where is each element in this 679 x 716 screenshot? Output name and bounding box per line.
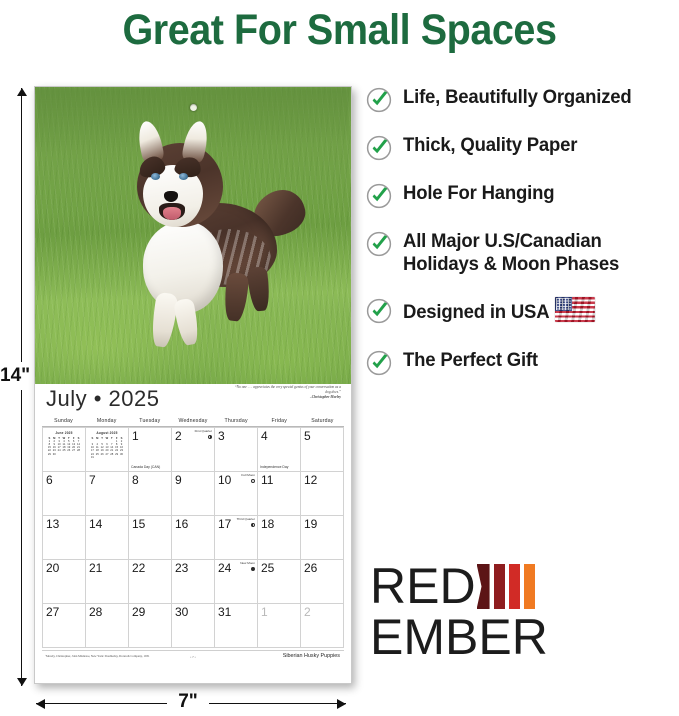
feature-label: Designed in USA [403, 297, 595, 328]
dog-eye-left [151, 173, 160, 180]
width-dimension-label: 7" [167, 691, 209, 713]
feature-item: The Perfect Gift [366, 349, 676, 376]
calendar-day-cell: 7 [86, 472, 129, 516]
calendar-day-cell: 19 [301, 516, 344, 560]
calendar-day-cell: 31 [215, 604, 258, 648]
mini-month-title: August 2025 [90, 432, 124, 436]
day-number: 9 [175, 473, 182, 487]
calendar-day-cell: 27 [43, 604, 86, 648]
day-number: 11 [261, 473, 273, 487]
hanging-hole-icon [190, 104, 197, 111]
calendar-day-cell: 2 [301, 604, 344, 648]
day-number: 18 [261, 517, 274, 531]
feature-item: Designed in USA [366, 297, 676, 328]
feature-item: All Major U.S/CanadianHolidays & Moon Ph… [366, 230, 676, 276]
calendar-day-cell: 29 [129, 604, 172, 648]
page-title: Great For Small Spaces [27, 4, 652, 56]
day-number: 16 [175, 517, 188, 531]
day-number: 25 [261, 561, 274, 575]
calendar-day-cell: 15 [129, 516, 172, 560]
feature-label: All Major U.S/CanadianHolidays & Moon Ph… [403, 230, 619, 276]
mini-month-title: June 2025 [47, 432, 81, 436]
check-circle-icon [366, 350, 392, 376]
arrow-down-icon [17, 678, 27, 686]
moon-phase-icon: Full Moon [241, 474, 255, 483]
us-flag-icon [555, 297, 595, 328]
calendar-day-cell: 4Independence Day [258, 428, 301, 472]
moon-phase-icon: Third Quarter [237, 518, 255, 527]
day-number: 23 [175, 561, 188, 575]
check-circle-icon [366, 298, 392, 324]
calendar-day-cell: 12 [301, 472, 344, 516]
logo-bar-3 [509, 564, 520, 609]
calendar-grid-panel: July • 2025 “No one . . . appreciates th… [35, 384, 351, 684]
day-number: 28 [89, 605, 102, 619]
calendar-day-cell: 30 [172, 604, 215, 648]
calendar-day-cell: 3 [215, 428, 258, 472]
arrow-up-icon [17, 88, 27, 96]
calendar-day-cell: 8 [129, 472, 172, 516]
logo-bar-2 [494, 564, 505, 609]
day-number: 24 [218, 561, 231, 575]
dog-front-leg-left [149, 292, 178, 349]
day-number: 1 [132, 429, 139, 443]
day-number: 3 [218, 429, 225, 443]
day-header: Saturday [301, 414, 344, 426]
calendar-header: July • 2025 “No one . . . appreciates th… [42, 384, 344, 414]
day-number: 27 [46, 605, 59, 619]
logo-bar-1 [477, 564, 490, 609]
dog-tongue [163, 207, 181, 220]
calendar-photo-panel [35, 87, 351, 384]
day-number: 30 [175, 605, 188, 619]
day-number: 10 [218, 473, 231, 487]
calendar-mini-month-cell: June 2025SMTWTFS123456789101112131415161… [43, 428, 86, 472]
check-circle-icon [366, 183, 392, 209]
check-circle-icon [366, 87, 392, 113]
calendar-day-cell: 28 [86, 604, 129, 648]
calendar-day-cell: 21 [86, 560, 129, 604]
calendar-day-cell: 25 [258, 560, 301, 604]
day-number: 31 [218, 605, 231, 619]
day-number: 20 [46, 561, 59, 575]
calendar-day-cell: 17Third Quarter [215, 516, 258, 560]
quote-text: “No one . . . appreciates the very speci… [235, 385, 341, 394]
dog-hind-leg-right [247, 266, 271, 312]
day-header: Sunday [42, 414, 85, 426]
day-number: 15 [132, 517, 145, 531]
feature-item: Life, Beautifully Organized [366, 86, 676, 113]
day-number: 17 [218, 517, 231, 531]
day-number: 2 [175, 429, 182, 443]
calendar-page-number: • 7 • [190, 655, 195, 659]
calendar-credit: ‘Morely, Christopher, John Mistletoe, Ne… [45, 654, 149, 658]
day-number: 12 [304, 473, 317, 487]
day-header: Friday [258, 414, 301, 426]
calendar-month-title: July • 2025 [46, 386, 160, 412]
check-circle-icon [366, 231, 392, 257]
calendar-day-cell: 11 [258, 472, 301, 516]
logo-top-row: RED [370, 563, 610, 610]
red-ember-logo: RED EMBER [370, 563, 610, 662]
feature-list: Life, Beautifully Organized Thick, Quali… [366, 86, 676, 397]
feature-label: Thick, Quality Paper [403, 134, 577, 157]
calendar-day-cell: 14 [86, 516, 129, 560]
calendar-day-cell: 9 [172, 472, 215, 516]
calendar-day-cell: 20 [43, 560, 86, 604]
calendar-day-cell: 18 [258, 516, 301, 560]
calendar-quote: “No one . . . appreciates the very speci… [231, 385, 341, 400]
feature-item: Thick, Quality Paper [366, 134, 676, 161]
day-header: Thursday [215, 414, 258, 426]
logo-word-ember: EMBER [370, 612, 610, 662]
feature-item: Hole For Hanging [366, 182, 676, 209]
day-number: 14 [89, 517, 102, 531]
day-number: 19 [304, 517, 317, 531]
calendar-mini-month-cell: August 2025SMTWTFS1234567891011121314151… [86, 428, 129, 472]
calendar-footer: ‘Morely, Christopher, John Mistletoe, Ne… [42, 650, 344, 664]
calendar-series-title: Siberian Husky Puppies [283, 653, 340, 659]
check-circle-icon [366, 135, 392, 161]
calendar-day-grid: June 2025SMTWTFS123456789101112131415161… [42, 427, 344, 648]
dog-hind-leg-left [223, 272, 250, 322]
day-number: 26 [304, 561, 317, 575]
calendar-day-cell: 1 [258, 604, 301, 648]
calendar-day-cell: 10Full Moon [215, 472, 258, 516]
husky-puppy-photo [113, 117, 303, 357]
day-number: 1 [261, 605, 268, 619]
calendar-day-cell: 1Canada Day (CAN) [129, 428, 172, 472]
mini-month: August 2025SMTWTFS1234567891011121314151… [90, 432, 124, 459]
day-number: 22 [132, 561, 145, 575]
calendar-day-headers: SundayMondayTuesdayWednesdayThursdayFrid… [42, 414, 344, 427]
day-header: Wednesday [171, 414, 214, 426]
day-number: 5 [304, 429, 311, 443]
arrow-left-icon [36, 699, 45, 709]
day-number: 2 [304, 605, 311, 619]
product-marketing-image: Great For Small Spaces 14" 7" [0, 0, 679, 716]
feature-label: Hole For Hanging [403, 182, 554, 205]
day-number: 6 [46, 473, 53, 487]
logo-bar-4 [524, 564, 535, 609]
mini-month: June 2025SMTWTFS123456789101112131415161… [47, 432, 81, 456]
holiday-label: Independence Day [260, 465, 298, 469]
calendar-day-cell: 5 [301, 428, 344, 472]
calendar-day-cell: 6 [43, 472, 86, 516]
calendar-product: July • 2025 “No one . . . appreciates th… [34, 86, 352, 684]
height-dimension-label: 14" [0, 362, 30, 390]
moon-phase-icon: New Moon [240, 562, 255, 571]
calendar-day-cell: 2First Quarter [172, 428, 215, 472]
calendar-day-cell: 23 [172, 560, 215, 604]
day-number: 4 [261, 429, 268, 443]
logo-word-red: RED [370, 563, 476, 610]
feature-label: Life, Beautifully Organized [403, 86, 632, 109]
dog-eye-right [179, 173, 188, 180]
day-header: Tuesday [128, 414, 171, 426]
feature-label: The Perfect Gift [403, 349, 538, 372]
holiday-label: Canada Day (CAN) [131, 465, 169, 469]
calendar-day-cell: 26 [301, 560, 344, 604]
calendar-day-cell: 22 [129, 560, 172, 604]
quote-author: –Christopher Morley [231, 395, 341, 400]
day-number: 8 [132, 473, 139, 487]
logo-ember-bars [477, 564, 535, 609]
arrow-right-icon [337, 699, 346, 709]
calendar-day-cell: 13 [43, 516, 86, 560]
calendar-day-cell: 16 [172, 516, 215, 560]
day-number: 13 [46, 517, 59, 531]
moon-phase-icon: First Quarter [195, 430, 212, 439]
day-number: 21 [89, 561, 102, 575]
calendar-day-cell: 24New Moon [215, 560, 258, 604]
day-number: 29 [132, 605, 145, 619]
day-number: 7 [89, 473, 96, 487]
day-header: Monday [85, 414, 128, 426]
